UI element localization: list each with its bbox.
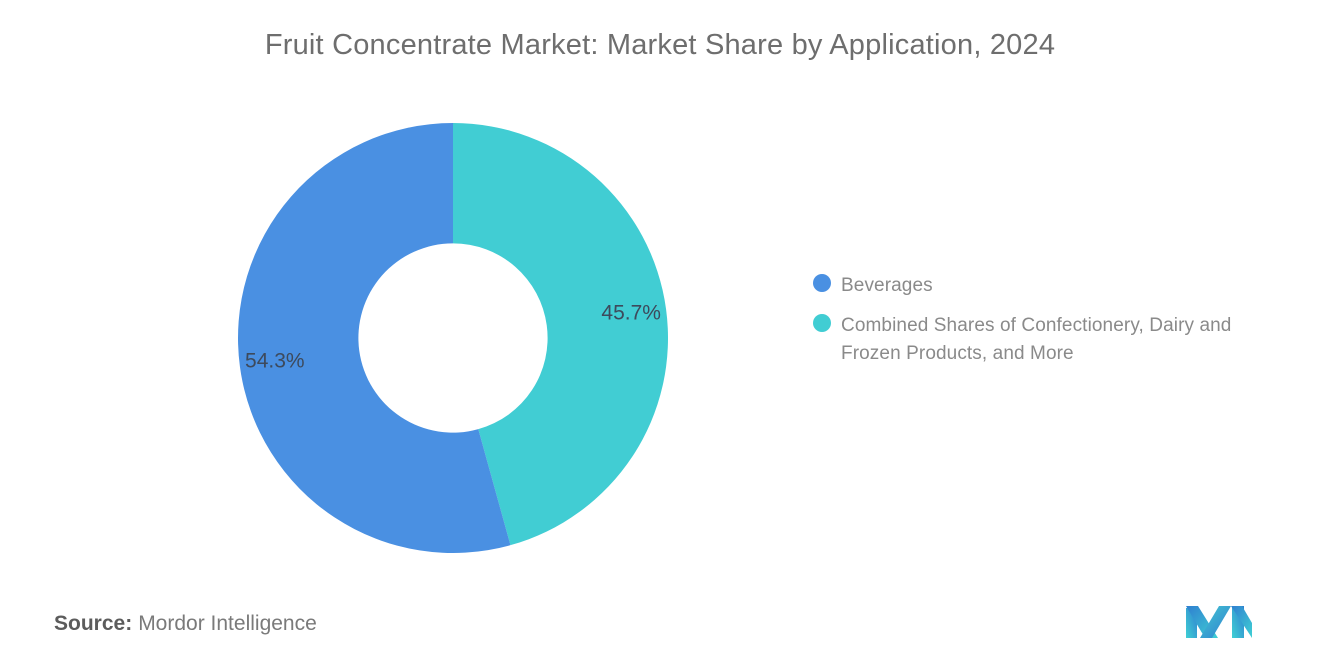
legend-item-beverages[interactable]: Beverages — [813, 272, 1283, 300]
legend-item-combined-shares[interactable]: Combined Shares of Confectionery, Dairy … — [813, 312, 1283, 368]
legend-swatch-icon-combined-shares — [813, 314, 831, 332]
legend-label-beverages: Beverages — [841, 272, 933, 300]
slice-label-beverages: 54.3% — [245, 350, 305, 373]
source-line: Source:Mordor Intelligence — [54, 612, 317, 636]
source-label: Source: — [54, 612, 132, 635]
legend-label-combined-shares: Combined Shares of Confectionery, Dairy … — [841, 312, 1283, 368]
source-value: Mordor Intelligence — [138, 612, 317, 635]
donut-chart-graphic: 54.3% 45.7% — [238, 123, 668, 553]
legend-swatch-icon-beverages — [813, 274, 831, 292]
donut-chart-figure: Fruit Concentrate Market: Market Share b… — [0, 0, 1320, 665]
logo-svg — [1184, 598, 1254, 640]
mordor-intelligence-logo-icon — [1184, 598, 1254, 640]
chart-title: Fruit Concentrate Market: Market Share b… — [0, 29, 1320, 62]
donut-svg: 54.3% 45.7% — [238, 123, 668, 553]
slice-label-combined-shares: 45.7% — [601, 301, 661, 324]
chart-legend: Beverages Combined Shares of Confectione… — [813, 272, 1283, 380]
